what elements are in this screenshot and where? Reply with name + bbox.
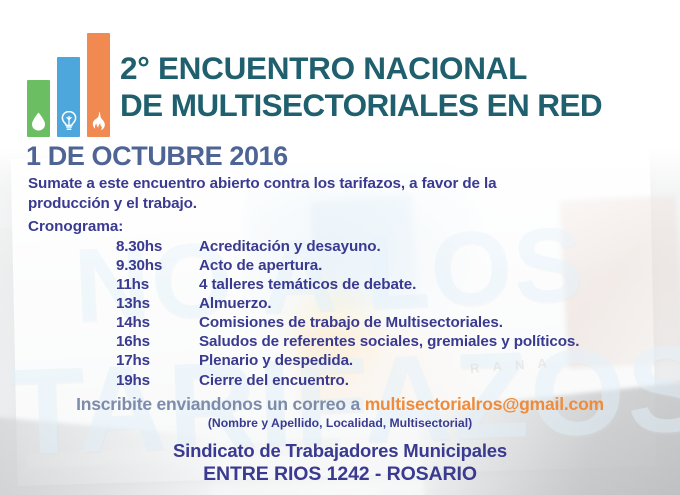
- signup-note: (Nombre y Apellido, Localidad, Multisect…: [0, 416, 680, 430]
- page-title: 2° ENCUENTRO NACIONAL DE MULTISECTORIALE…: [120, 50, 602, 124]
- water-drop-icon: [27, 108, 50, 134]
- schedule-activity: Almuerzo.: [199, 294, 272, 313]
- schedule-time: 19hs: [116, 371, 199, 390]
- schedule-heading: Cronograma:: [28, 218, 123, 235]
- logo-bar-electricity: [57, 57, 80, 137]
- flame-icon: [87, 108, 110, 134]
- schedule-row: 17hs Plenario y despedida.: [116, 351, 579, 370]
- schedule-time: 17hs: [116, 351, 199, 370]
- logo-bar-water: [27, 80, 50, 137]
- schedule-activity: Saludos de referentes sociales, gremiale…: [199, 332, 579, 351]
- intro-line-1: Sumate a este encuentro abierto contra l…: [28, 174, 628, 194]
- schedule-activity: Acreditación y desayuno.: [199, 237, 381, 256]
- schedule-activity: Acto de apertura.: [199, 256, 322, 275]
- schedule-time: 9.30hs: [116, 256, 199, 275]
- schedule-row: 13hs Almuerzo.: [116, 294, 579, 313]
- schedule-row: 16hs Saludos de referentes sociales, gre…: [116, 332, 579, 351]
- schedule-time: 11hs: [116, 275, 199, 294]
- schedule-activity: Comisiones de trabajo de Multisectoriale…: [199, 313, 503, 332]
- schedule-list: 8.30hs Acreditación y desayuno. 9.30hs A…: [116, 237, 579, 390]
- schedule-time: 16hs: [116, 332, 199, 351]
- signup-lead-text: Inscribite enviandonos un correo a: [76, 394, 365, 414]
- signup-line: Inscribite enviandonos un correo a multi…: [0, 394, 680, 415]
- venue-address: ENTRE RIOS 1242 - ROSARIO: [0, 463, 680, 486]
- schedule-row: 19hs Cierre del encuentro.: [116, 371, 579, 390]
- headline-line-2: DE MULTISECTORIALES EN RED: [120, 87, 602, 124]
- logo-bar-gas: [87, 33, 110, 137]
- event-poster: ROSARIO NO A LOS TARIFAZOS R A N A: [0, 0, 680, 495]
- schedule-time: 14hs: [116, 313, 199, 332]
- schedule-time: 13hs: [116, 294, 199, 313]
- headline-line-1: 2° ENCUENTRO NACIONAL: [120, 50, 602, 87]
- schedule-time: 8.30hs: [116, 237, 199, 256]
- poster-content: 2° ENCUENTRO NACIONAL DE MULTISECTORIALE…: [0, 0, 680, 495]
- intro-line-2: producción y el trabajo.: [28, 194, 628, 214]
- venue-name: Sindicato de Trabajadores Municipales: [0, 440, 680, 462]
- schedule-row: 9.30hs Acto de apertura.: [116, 256, 579, 275]
- schedule-activity: 4 talleres temáticos de debate.: [199, 275, 416, 294]
- schedule-row: 14hs Comisiones de trabajo de Multisecto…: [116, 313, 579, 332]
- intro-text: Sumate a este encuentro abierto contra l…: [28, 174, 628, 214]
- logo: [27, 33, 115, 137]
- lightbulb-icon: [57, 108, 80, 134]
- schedule-row: 8.30hs Acreditación y desayuno.: [116, 237, 579, 256]
- schedule-activity: Plenario y despedida.: [199, 351, 353, 370]
- event-date: 1 DE OCTUBRE 2016: [26, 141, 288, 172]
- schedule-row: 11hs 4 talleres temáticos de debate.: [116, 275, 579, 294]
- schedule-activity: Cierre del encuentro.: [199, 371, 349, 390]
- signup-email-link[interactable]: multisectorialros@gmail.com: [365, 394, 604, 414]
